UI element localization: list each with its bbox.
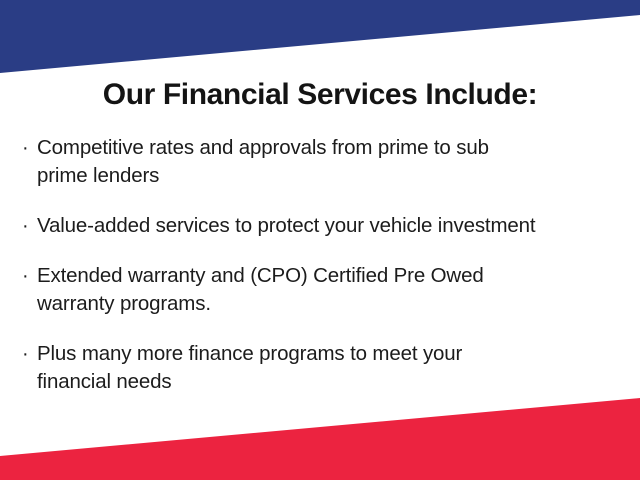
bullet-list: · Competitive rates and approvals from p… <box>22 134 622 396</box>
list-item: · Plus many more finance programs to mee… <box>22 340 622 396</box>
list-item-line: financial needs <box>37 368 622 396</box>
bullet-dot-icon: · <box>22 340 37 368</box>
list-item-text: Value-added services to protect your veh… <box>37 212 622 240</box>
list-item-line: Plus many more finance programs to meet … <box>37 340 622 368</box>
bullet-dot-icon: · <box>22 134 37 162</box>
red-diagonal-band <box>0 392 640 480</box>
red-band-shape <box>0 392 640 480</box>
bullet-dot-icon: · <box>22 262 37 290</box>
list-item-text: Plus many more finance programs to meet … <box>37 340 622 396</box>
blue-band-polygon <box>0 0 640 73</box>
blue-band-shape <box>0 0 640 80</box>
list-item: · Value-added services to protect your v… <box>22 212 622 240</box>
list-item: · Competitive rates and approvals from p… <box>22 134 622 190</box>
list-item: · Extended warranty and (CPO) Certified … <box>22 262 622 318</box>
red-band-polygon <box>0 398 640 480</box>
list-item-text: Competitive rates and approvals from pri… <box>37 134 622 190</box>
list-item-line: Competitive rates and approvals from pri… <box>37 134 622 162</box>
list-item-text: Extended warranty and (CPO) Certified Pr… <box>37 262 622 318</box>
slide-canvas: Our Financial Services Include: · Compet… <box>0 0 640 480</box>
page-title: Our Financial Services Include: <box>0 77 640 113</box>
list-item-line: warranty programs. <box>37 290 622 318</box>
blue-diagonal-band <box>0 0 640 80</box>
list-item-line: Value-added services to protect your veh… <box>37 212 622 240</box>
list-item-line: Extended warranty and (CPO) Certified Pr… <box>37 262 622 290</box>
bullet-dot-icon: · <box>22 212 37 240</box>
list-item-line: prime lenders <box>37 162 622 190</box>
